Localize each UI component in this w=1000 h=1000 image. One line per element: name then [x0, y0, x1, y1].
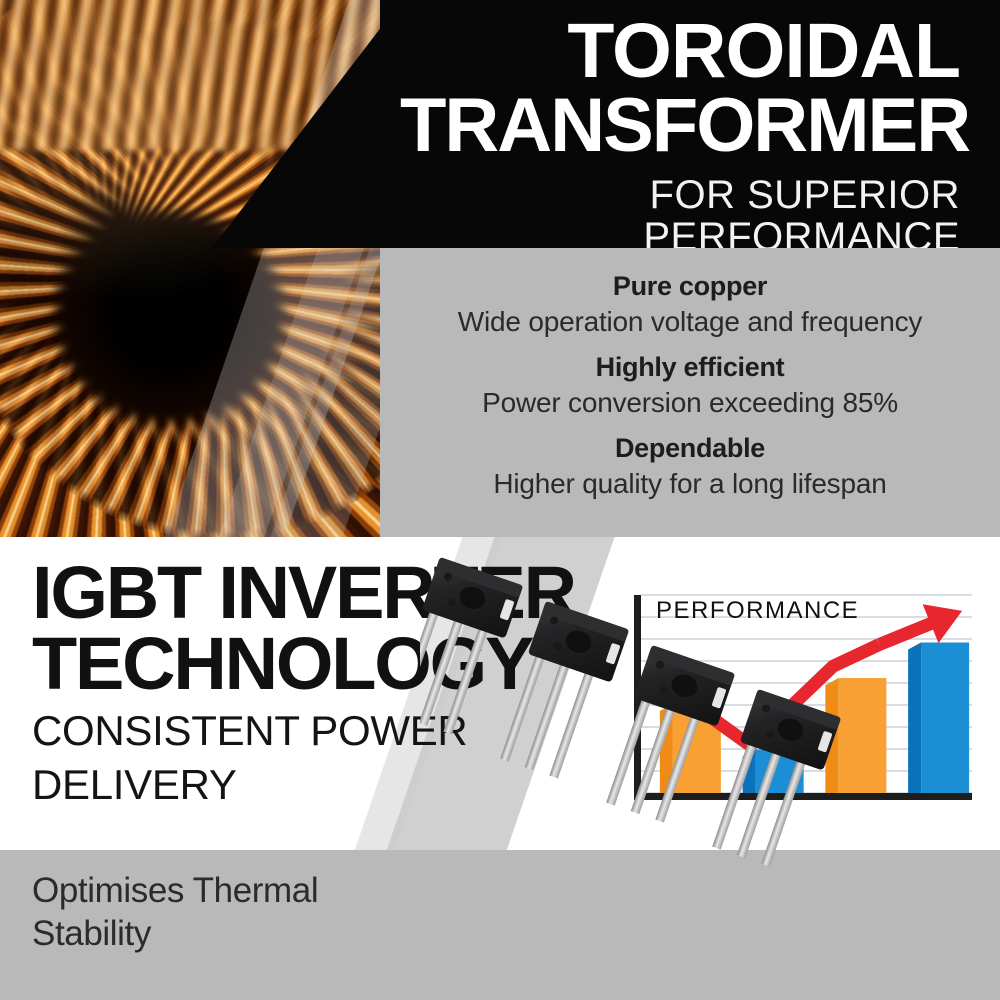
feature-description: Power conversion exceeding 85% — [380, 385, 1000, 421]
transistors-svg — [420, 537, 1000, 1000]
thermal-footer-line-1: Optimises Thermal — [32, 870, 452, 913]
bottom-section: IGBT INVERTER TECHNOLOGY CONSISTENT POWE… — [0, 537, 1000, 1000]
feature-title: Dependable — [380, 432, 1000, 466]
headline-subtitle: FOR SUPERIOR PERFORMANCE — [400, 174, 960, 258]
igbt-transistors-photo — [420, 537, 1000, 1000]
feature-description: Higher quality for a long lifespan — [380, 466, 1000, 502]
thermal-footer-block: Optimises Thermal Stability — [32, 870, 452, 955]
top-section: TOROIDAL TRANSFORMER FOR SUPERIOR PERFOR… — [0, 0, 1000, 537]
feature-description: Wide operation voltage and frequency — [380, 304, 1000, 340]
features-panel: Pure copper Wide operation voltage and f… — [380, 248, 1000, 537]
product-infographic: TOROIDAL TRANSFORMER FOR SUPERIOR PERFOR… — [0, 0, 1000, 1000]
headline-line-2: TRANSFORMER — [400, 89, 960, 163]
thermal-footer-line-2: Stability — [32, 913, 452, 956]
feature-title: Pure copper — [380, 270, 1000, 304]
transistor-unit — [493, 601, 630, 785]
headline-text-block: TOROIDAL TRANSFORMER FOR SUPERIOR PERFOR… — [400, 14, 960, 258]
headline-panel: TOROIDAL TRANSFORMER FOR SUPERIOR PERFOR… — [380, 0, 1000, 248]
transistor-unit — [599, 645, 736, 829]
feature-title: Highly efficient — [380, 351, 1000, 385]
transistor-unit — [705, 689, 842, 873]
transistor-unit — [420, 557, 523, 741]
headline-line-1: TOROIDAL — [400, 14, 960, 89]
